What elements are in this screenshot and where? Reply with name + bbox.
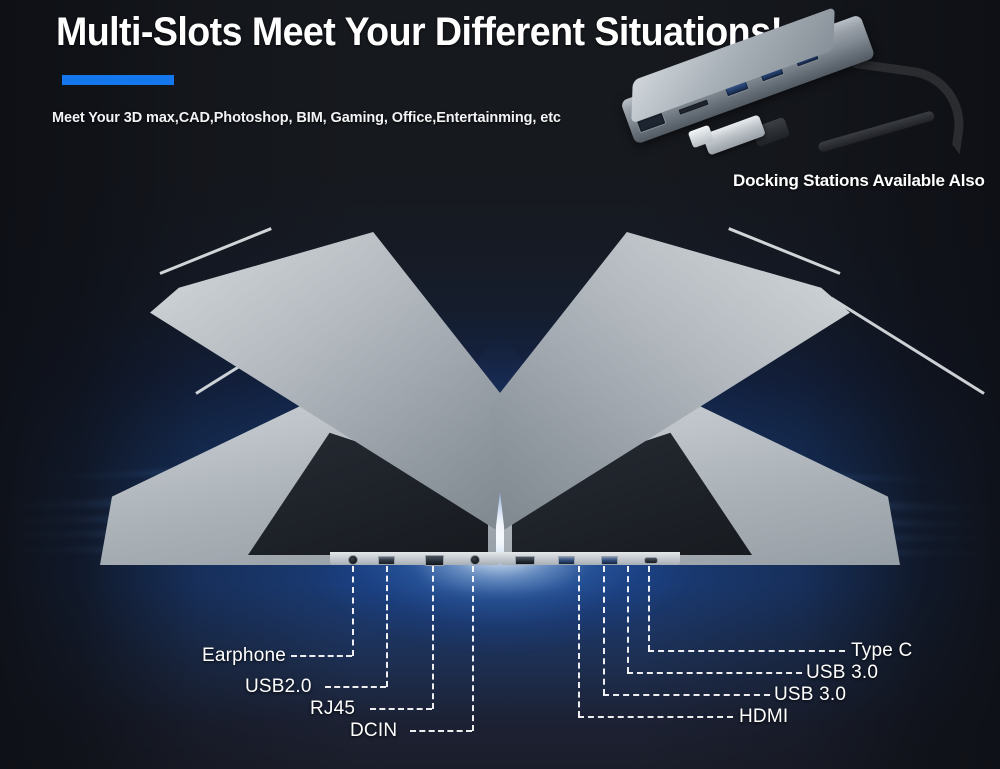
left-laptop-port-strip <box>330 552 500 565</box>
usb20-port <box>378 556 395 565</box>
usb30-port <box>601 556 618 565</box>
right-laptop <box>480 0 1000 600</box>
callout-line-earphone <box>291 655 352 657</box>
callout-line-usb30-lower <box>603 566 605 695</box>
port-label-usb30-lower: USB 3.0 <box>774 684 846 706</box>
callout-line-hdmi <box>578 716 733 718</box>
callout-line-usb20 <box>325 686 386 688</box>
dcin-port <box>470 555 480 565</box>
rj45-port <box>425 555 444 566</box>
port-label-hdmi: HDMI <box>739 706 788 728</box>
callout-line-dcin <box>472 566 474 731</box>
right-laptop-palmrest-edge <box>831 297 985 395</box>
hdmi-port <box>515 556 535 565</box>
callout-line-usb20 <box>386 566 388 687</box>
callout-line-hdmi <box>578 566 580 717</box>
callout-line-typec <box>648 566 650 651</box>
port-label-earphone: Earphone <box>202 645 286 667</box>
callout-line-usb30-upper <box>627 672 802 674</box>
port-label-dcin: DCIN <box>350 720 397 742</box>
usb30-port <box>558 556 575 565</box>
callout-line-typec <box>648 650 845 652</box>
port-label-usb30-upper: USB 3.0 <box>806 662 878 684</box>
callout-line-earphone <box>352 566 354 656</box>
callout-line-usb30-upper <box>627 566 629 673</box>
product-banner: Multi-Slots Meet Your Different Situatio… <box>0 0 1000 769</box>
callout-line-dcin <box>410 730 472 732</box>
callout-line-usb30-lower <box>603 694 770 696</box>
right-laptop-port-strip <box>500 552 680 565</box>
port-label-rj45: RJ45 <box>310 698 355 720</box>
callout-line-rj45 <box>432 566 434 709</box>
earphone-port <box>348 555 358 565</box>
port-label-typec: Type C <box>851 640 912 662</box>
callout-line-rj45 <box>370 708 432 710</box>
typec-port <box>644 557 658 564</box>
port-label-usb20: USB2.0 <box>245 676 312 698</box>
left-laptop <box>0 0 520 600</box>
